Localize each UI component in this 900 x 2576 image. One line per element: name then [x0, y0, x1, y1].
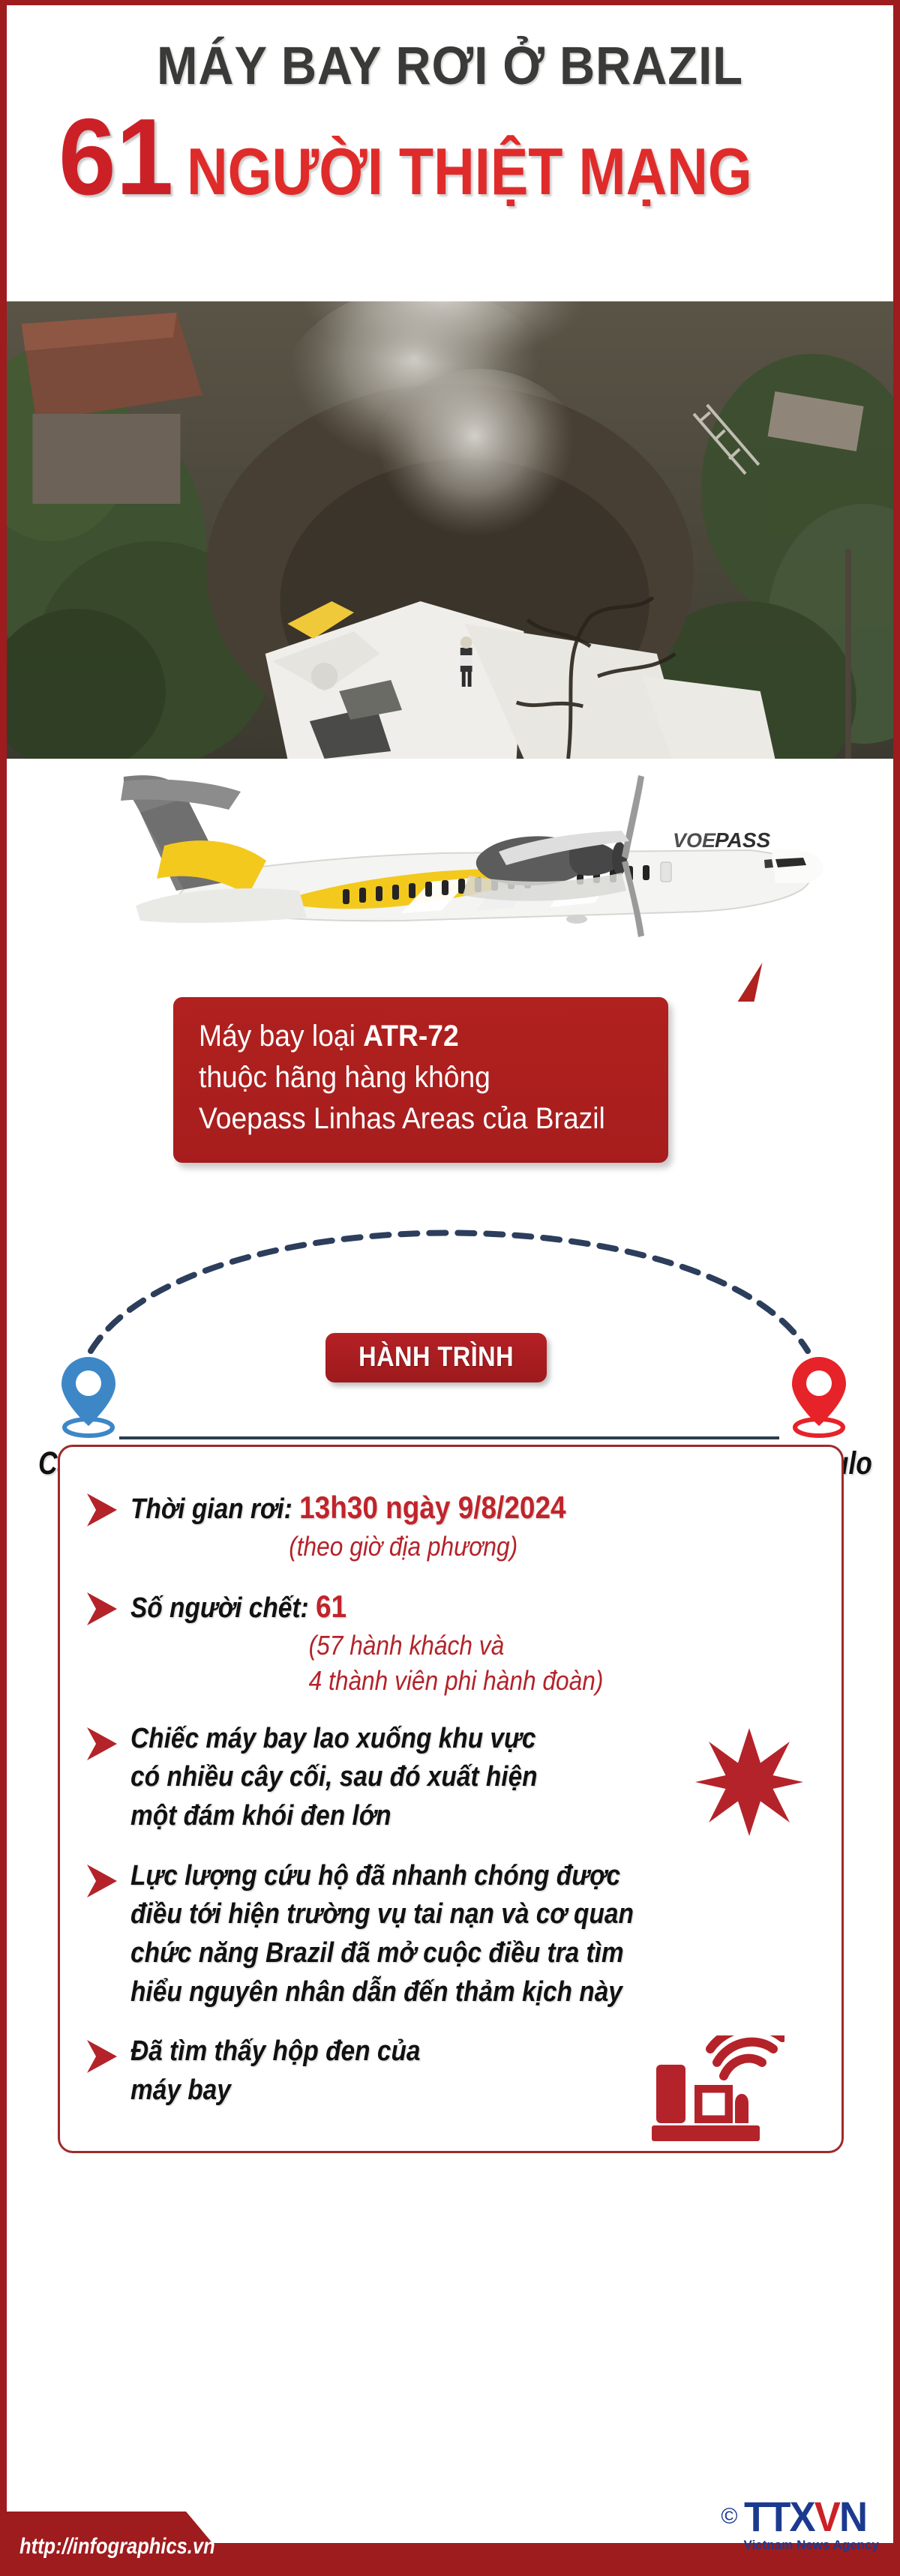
arrow-bullet-icon	[85, 1863, 118, 1899]
footer: http://infographics.vn © TTXVN Vietnam N…	[0, 2489, 900, 2576]
fact-subnote-line1: (57 hành khách và	[130, 1628, 736, 1664]
headline-row: 61 NGƯỜI THIỆT MẠNG	[7, 109, 893, 205]
plane-livery-text: VOE	[673, 829, 716, 852]
fact-text: Số người chết: 61 (57 hành khách và 4 th…	[130, 1585, 736, 1698]
fact-text: Lực lượng cứu hộ đã nhanh chóng được điề…	[130, 1857, 736, 2012]
fact-line-4: hiểu nguyên nhân dẫn đến thảm kịch này	[130, 1976, 622, 2008]
aircraft-model: ATR-72	[363, 1020, 458, 1053]
atr72-plane-icon: VOE PASS	[52, 763, 869, 973]
fact-item-rescue: Lực lượng cứu hộ đã nhanh chóng được điề…	[82, 1857, 819, 2012]
fact-line-1: Chiếc máy bay lao xuống khu vực	[130, 1723, 535, 1754]
headline-rest: NGƯỜI THIỆT MẠNG	[187, 139, 752, 205]
footer-url[interactable]: http://infographics.vn	[19, 2534, 215, 2560]
copyright-icon: ©	[721, 2504, 737, 2530]
fact-text: Đã tìm thấy hộp đen của máy bay	[130, 2032, 736, 2110]
star-burst-icon	[693, 1726, 805, 1838]
fact-line-1: Lực lượng cứu hộ đã nhanh chóng được	[130, 1860, 620, 1892]
logo-tt: TT	[744, 2493, 790, 2540]
route-badge-label: HÀNH TRÌNH	[358, 1341, 514, 1373]
crash-site-illustration	[7, 301, 893, 759]
fact-line-2: máy bay	[130, 2074, 231, 2106]
fact-line-2: có nhiều cây cối, sau đó xuất hiện	[130, 1761, 538, 1793]
facts-panel: Thời gian rơi: 13h30 ngày 9/8/2024 (theo…	[58, 1445, 844, 2153]
aircraft-type-callout: Máy bay loại ATR-72 thuộc hãng hàng khôn…	[173, 997, 668, 1163]
crash-site-photo	[7, 301, 893, 759]
fact-line-3: chức năng Brazil đã mở cuộc điều tra tìm	[130, 1937, 624, 1969]
ttxvn-logo: © TTXVN Vietnam News Agency	[721, 2497, 879, 2553]
fact-line-2: điều tới hiện trường vụ tai nạn và cơ qu…	[130, 1898, 634, 1930]
logo-n: N	[839, 2493, 866, 2540]
black-box-signal-icon	[649, 2035, 784, 2148]
origin-pin-icon	[56, 1354, 121, 1442]
fact-subnote: (theo giờ địa phương)	[130, 1529, 736, 1565]
fact-line-1: Đã tìm thấy hộp đen của	[130, 2035, 420, 2067]
callout-line-3: Voepass Linhas Areas của Brazil	[199, 1098, 612, 1140]
fact-value: 13h30 ngày 9/8/2024	[299, 1490, 565, 1525]
header: MÁY BAY RƠI Ở BRAZIL 61 NGƯỜI THIỆT MẠNG	[7, 5, 893, 301]
callout-prefix: Máy bay loại	[199, 1020, 363, 1053]
arrow-bullet-icon	[85, 1492, 118, 1528]
callout-wrapper: Máy bay loại ATR-72 thuộc hãng hàng khôn…	[7, 976, 893, 1186]
fact-label: Thời gian rơi:	[130, 1493, 299, 1525]
logo-subtitle: Vietnam News Agency	[744, 2538, 879, 2553]
fact-line-3: một đám khói đen lớn	[130, 1800, 391, 1832]
logo-x: X	[789, 2493, 814, 2540]
arrow-bullet-icon	[85, 2038, 118, 2074]
fact-value: 61	[316, 1589, 346, 1624]
svg-text:PASS: PASS	[715, 828, 770, 852]
callout-line-2: thuộc hãng hàng không	[199, 1057, 612, 1098]
fact-text: Chiếc máy bay lao xuống khu vực có nhiều…	[130, 1720, 736, 1836]
fact-item-deaths: Số người chết: 61 (57 hành khách và 4 th…	[82, 1585, 819, 1698]
fact-item-blackbox: Đã tìm thấy hộp đen của máy bay	[82, 2032, 819, 2110]
plane-illustration-area: VOE PASS	[7, 759, 893, 976]
arrow-bullet-icon	[85, 1591, 118, 1627]
fact-text: Thời gian rơi: 13h30 ngày 9/8/2024 (theo…	[130, 1486, 736, 1564]
fact-item-time: Thời gian rơi: 13h30 ngày 9/8/2024 (theo…	[82, 1486, 819, 1564]
route-section: HÀNH TRÌNH Cascavel, bang Parana Guarulh…	[7, 1186, 893, 1456]
fact-subnote-line2: 4 thành viên phi hành đoàn)	[130, 1664, 736, 1699]
fact-item-impact: Chiếc máy bay lao xuống khu vực có nhiều…	[82, 1720, 819, 1836]
callout-line-1: Máy bay loại ATR-72	[199, 1016, 612, 1057]
page-title: MÁY BAY RƠI Ở BRAZIL	[42, 40, 857, 93]
destination-pin-icon	[787, 1354, 851, 1442]
arrow-bullet-icon	[85, 1726, 118, 1762]
fact-label: Số người chết:	[130, 1592, 316, 1624]
logo-v: V	[814, 2493, 838, 2540]
infographic-poster: MÁY BAY RƠI Ở BRAZIL 61 NGƯỜI THIỆT MẠNG	[0, 0, 900, 2576]
route-baseline	[119, 1436, 779, 1439]
death-count-number: 61	[58, 109, 173, 205]
logo-wordmark: TTXVN	[744, 2497, 871, 2536]
route-badge: HÀNH TRÌNH	[325, 1333, 547, 1382]
